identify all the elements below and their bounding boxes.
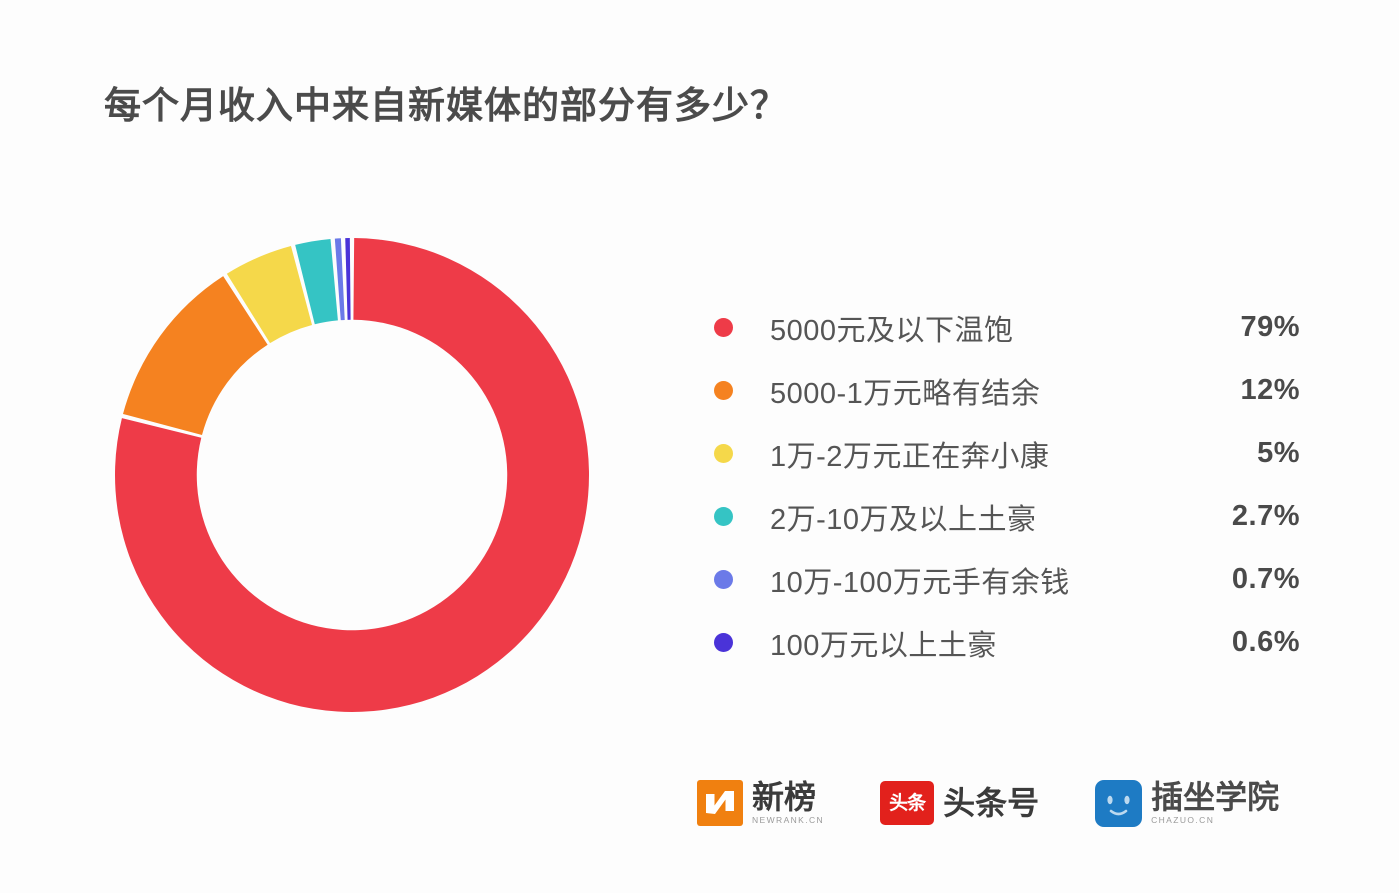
logo-name-cn: 插坐学院 [1151,781,1279,814]
logo-newrank: 新榜 NEWRANK.CN [697,780,824,826]
legend-item-2[interactable]: 1万-2万元正在奔小康 5% [706,422,1306,485]
legend-item-label: 1万-2万元正在奔小康 [770,433,1049,475]
legend-item-value: 79% [1136,311,1300,344]
donut-slice[interactable] [345,238,350,320]
legend-item-value: 12% [1136,374,1300,407]
legend-item-4[interactable]: 10万-100万元手有余钱 0.7% [706,548,1306,611]
slide-canvas: 每个月收入中来自新媒体的部分有多少？ 5000元及以下温饱 79% 5000-1… [0,0,1399,893]
donut-slices [115,238,589,712]
legend-item-value: 2.7% [1136,500,1300,533]
toutiaohao-text: 头条号 [943,787,1039,820]
toutiao-mark-text: 头条 [889,794,925,813]
legend-item-label: 2万-10万及以上土豪 [770,496,1037,538]
legend-item-5[interactable]: 100万元以上土豪 0.6% [706,611,1306,674]
logo-chazuo-xueyuan: 插坐学院 CHAZUO.CN [1095,780,1279,827]
legend-item-value: 0.7% [1136,563,1300,596]
legend-swatch-icon [714,633,733,652]
logo-name-cn: 头条号 [943,787,1039,820]
toutiao-mark-icon: 头条 [880,781,934,825]
legend-swatch-icon [714,570,733,589]
legend-item-value: 5% [1136,437,1300,470]
logo-name-cn: 新榜 [752,781,824,814]
legend-item-label: 5000元及以下温饱 [770,307,1014,349]
chazuo-text: 插坐学院 CHAZUO.CN [1151,781,1279,826]
legend-item-value: 0.6% [1136,626,1300,659]
legend-item-label: 100万元以上土豪 [770,622,997,664]
newrank-zigzag-icon [697,780,743,826]
legend-item-1[interactable]: 5000-1万元略有结余 12% [706,359,1306,422]
logo-toutiaohao: 头条 头条号 [880,781,1039,825]
chazuo-face-icon [1095,780,1142,827]
legend-swatch-icon [714,444,733,463]
logo-name-en: CHAZUO.CN [1151,815,1279,825]
legend-swatch-icon [714,318,733,337]
legend-item-0[interactable]: 5000元及以下温饱 79% [706,296,1306,359]
legend-item-3[interactable]: 2万-10万及以上土豪 2.7% [706,485,1306,548]
newrank-text: 新榜 NEWRANK.CN [752,781,824,826]
newrank-mark-icon [697,780,743,826]
legend-swatch-icon [714,507,733,526]
logo-name-en: NEWRANK.CN [752,815,824,825]
chazuo-mark-icon [1095,780,1142,827]
chart-legend: 5000元及以下温饱 79% 5000-1万元略有结余 12% 1万-2万元正在… [706,296,1306,674]
donut-chart [110,233,594,717]
partner-logo-bar: 新榜 NEWRANK.CN 头条 头条号 插坐学院 CHAZU [697,772,1279,834]
legend-item-label: 10万-100万元手有余钱 [770,559,1070,601]
legend-item-label: 5000-1万元略有结余 [770,370,1040,412]
legend-swatch-icon [714,381,733,400]
donut-chart-svg [110,233,594,717]
page-title: 每个月收入中来自新媒体的部分有多少？ [104,84,1104,128]
